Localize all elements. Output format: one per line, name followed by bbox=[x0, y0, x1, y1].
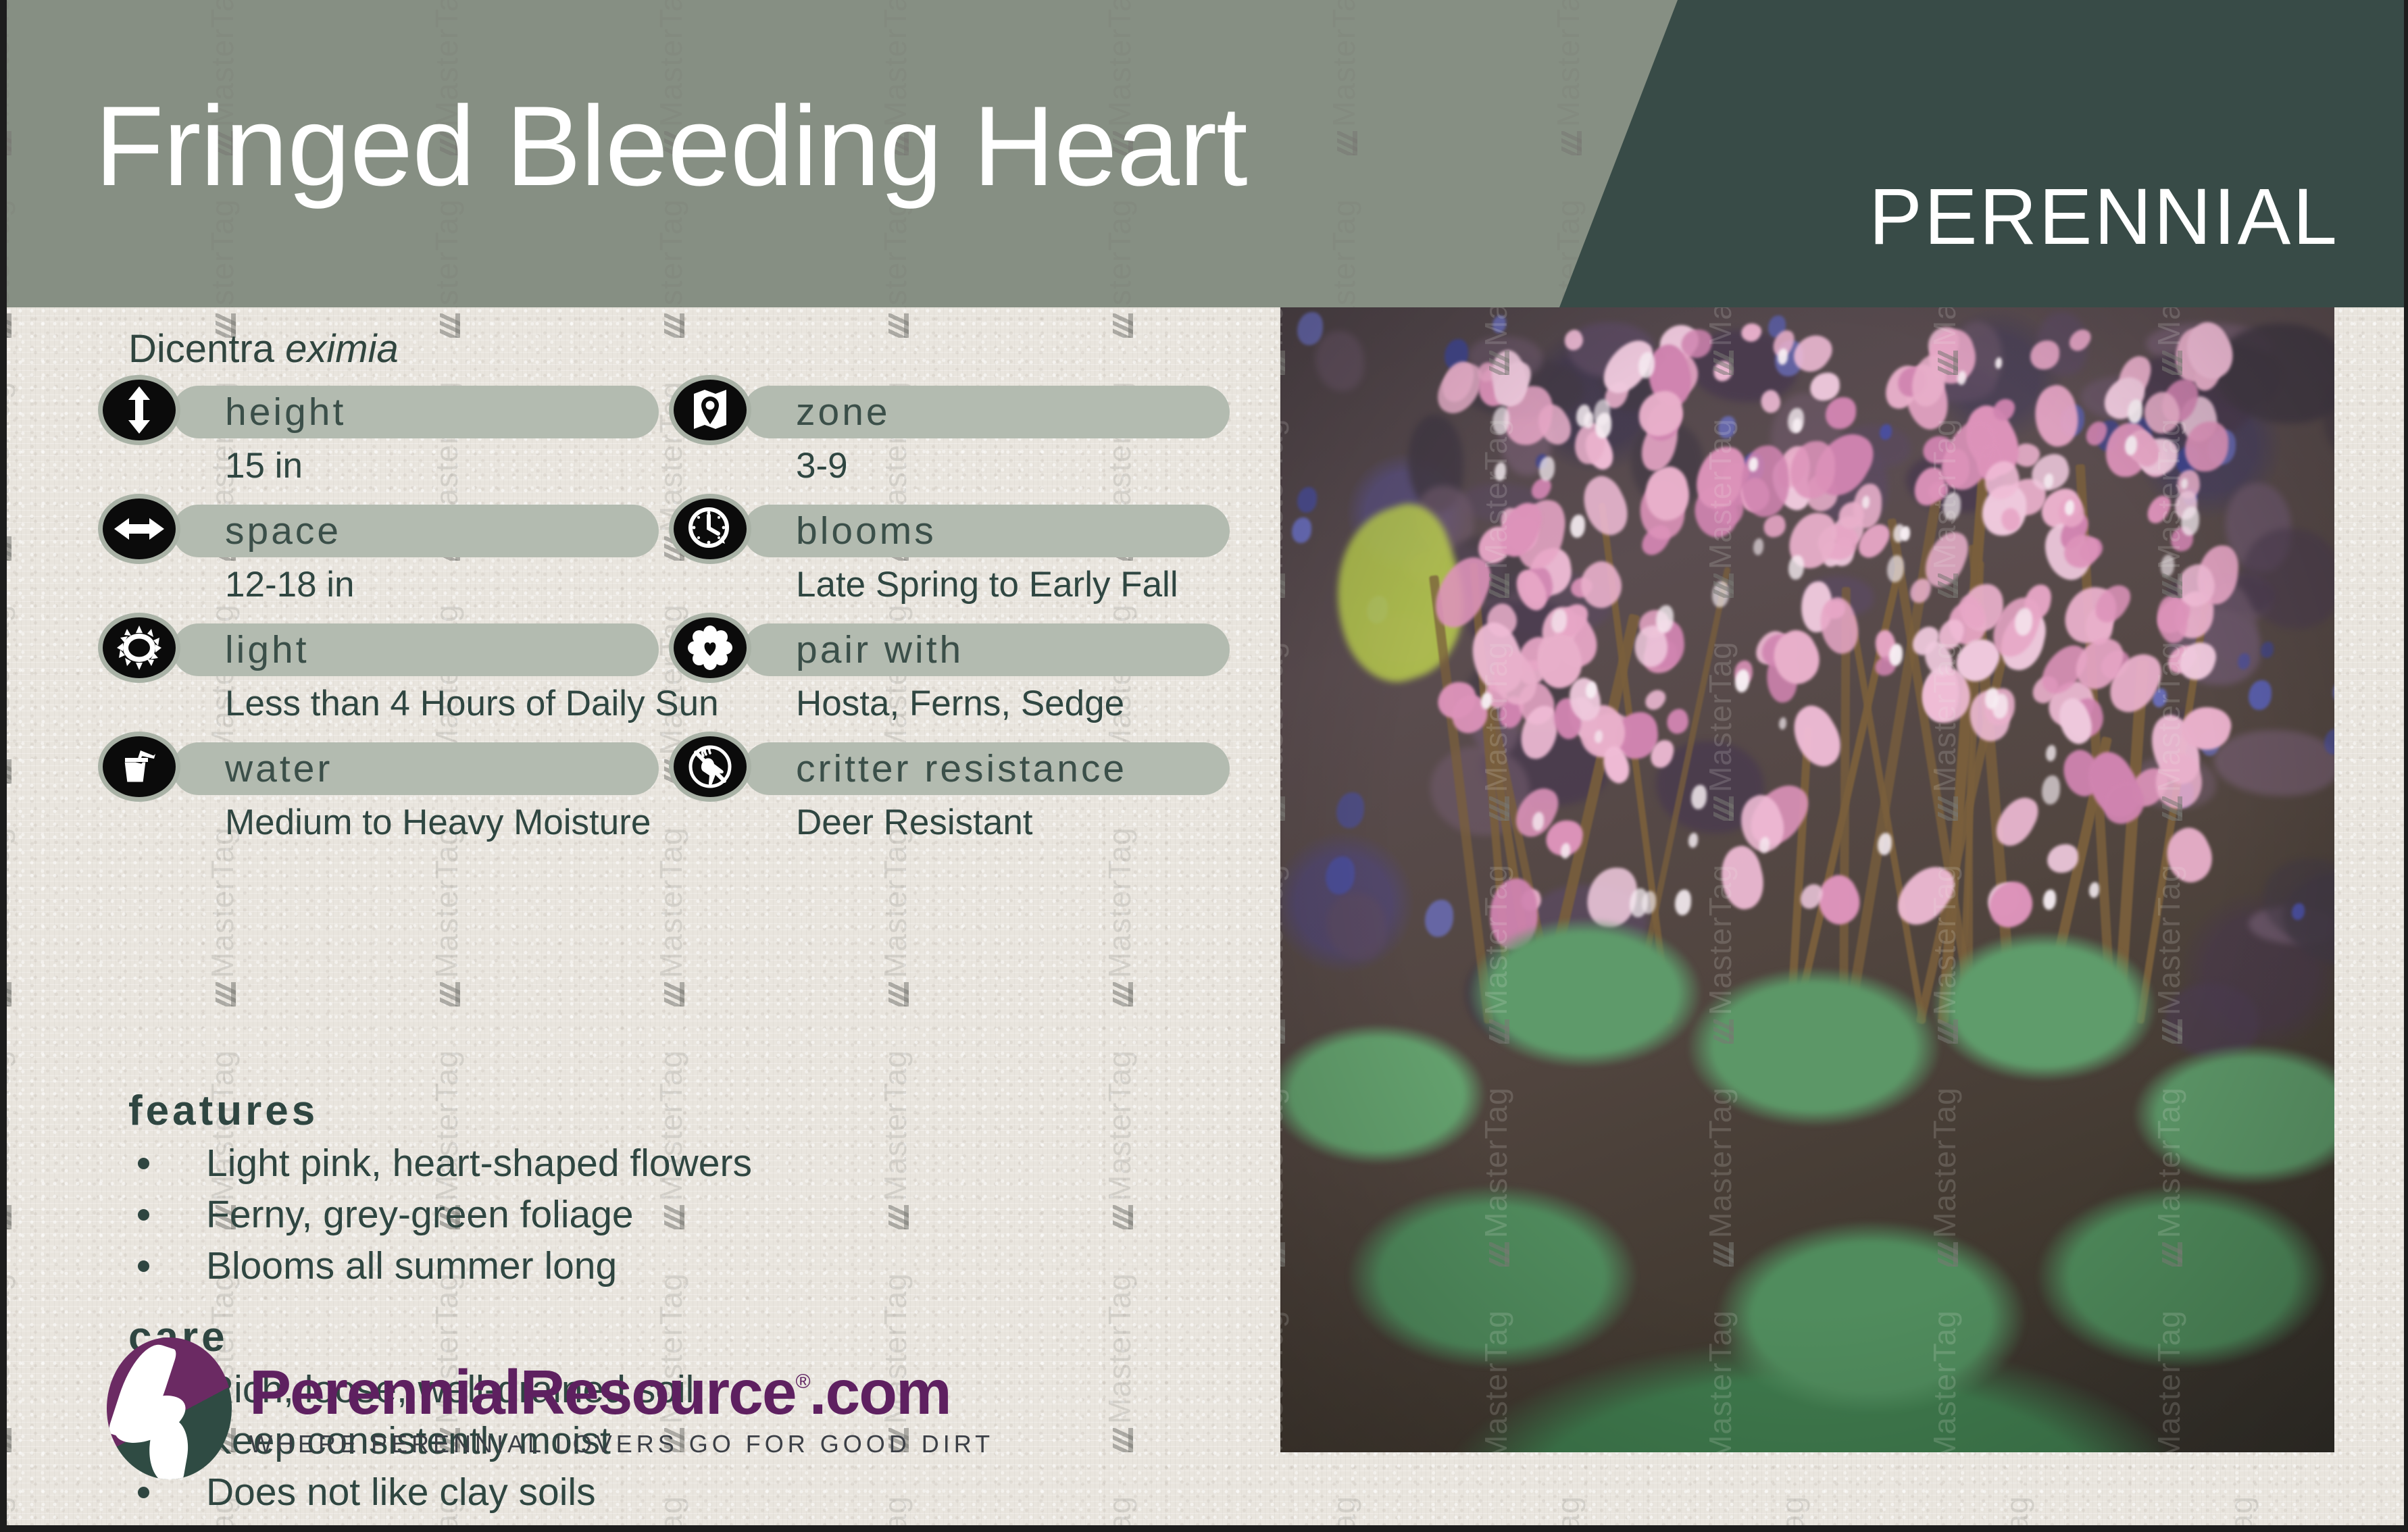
attribute-value: Less than 4 Hours of Daily Sun bbox=[225, 683, 719, 725]
no-deer-icon bbox=[669, 732, 751, 802]
bullet-dot bbox=[138, 1158, 149, 1169]
bullet-dot bbox=[138, 1487, 149, 1498]
list-item-text: Ferny, grey-green foliage bbox=[206, 1193, 634, 1236]
attribute-value: Deer Resistant bbox=[796, 802, 1033, 844]
sun-icon bbox=[98, 613, 180, 683]
attribute-pair-with: pair with Hosta, Ferns, Sedge bbox=[669, 621, 1230, 740]
attribute-column-left: height 15 in space 12-18 in bbox=[98, 383, 659, 859]
list-item-text: Blooms all summer long bbox=[206, 1244, 617, 1287]
height-arrow-icon bbox=[98, 375, 180, 445]
attribute-value: 12-18 in bbox=[225, 564, 355, 606]
attribute-light: light Less than 4 Hours of Daily Sun bbox=[98, 621, 659, 740]
attribute-value: 3-9 bbox=[796, 445, 848, 487]
page-title: Fringed Bleeding Heart bbox=[95, 89, 1247, 203]
attribute-value: Medium to Heavy Moisture bbox=[225, 802, 651, 844]
botanical-name: Dicentra eximia bbox=[128, 326, 399, 372]
attribute-label: pair with bbox=[796, 628, 963, 672]
attribute-space: space 12-18 in bbox=[98, 502, 659, 621]
plant-tag: MasterTagMasterTagMasterTagMasterTagMast… bbox=[0, 0, 2408, 1532]
attribute-blooms: blooms Late Spring to Early Fall bbox=[669, 502, 1230, 621]
watering-can-icon bbox=[98, 732, 180, 802]
plant-type-badge: PERENNIAL bbox=[1869, 177, 2339, 257]
perennial-resource-logo[interactable]: PerennialResource®.com WHERE PERENNIAL L… bbox=[107, 1337, 994, 1479]
attribute-label: light bbox=[225, 628, 309, 672]
bullet-dot bbox=[138, 1260, 149, 1272]
registered-mark-icon: ® bbox=[796, 1371, 809, 1393]
logo-text-block: PerennialResource®.com WHERE PERENNIAL L… bbox=[249, 1361, 994, 1456]
flower-heart-icon bbox=[669, 613, 751, 683]
plant-photo: MasterTagMasterTagMasterTagMasterTagMast… bbox=[1280, 307, 2334, 1452]
botanical-species: eximia bbox=[285, 327, 399, 371]
list-item: Light pink, heart-shaped flowers bbox=[128, 1138, 752, 1189]
logo-wordmark: PerennialResource®.com bbox=[249, 1361, 994, 1424]
attribute-label: critter resistance bbox=[796, 746, 1127, 791]
attribute-critter-resistance: critter resistance Deer Resistant bbox=[669, 740, 1230, 859]
attribute-label: blooms bbox=[796, 509, 936, 553]
attribute-label: space bbox=[225, 509, 341, 553]
header-band: MasterTagMasterTagMasterTagMasterTagMast… bbox=[7, 0, 2404, 307]
attribute-label: zone bbox=[796, 390, 891, 434]
features-heading: features bbox=[128, 1088, 752, 1135]
leaf-logo-icon bbox=[107, 1337, 232, 1479]
map-pin-icon bbox=[669, 375, 751, 445]
list-item: Ferny, grey-green foliage bbox=[128, 1189, 752, 1240]
bullet-dot bbox=[138, 1209, 149, 1221]
attribute-value: Hosta, Ferns, Sedge bbox=[796, 683, 1124, 725]
logo-tagline: WHERE PERENNIAL LOVERS GO FOR GOOD DIRT bbox=[249, 1432, 994, 1456]
list-item-text: Light pink, heart-shaped flowers bbox=[206, 1142, 752, 1185]
photo-vignette bbox=[1280, 307, 2334, 1452]
botanical-genus: Dicentra bbox=[128, 327, 274, 371]
attribute-height: height 15 in bbox=[98, 383, 659, 502]
attribute-column-right: zone 3-9 bbox=[669, 383, 1230, 859]
logo-wordmark-primary: PerennialResource bbox=[249, 1357, 796, 1427]
features-section: features Light pink, heart-shaped flower… bbox=[128, 1088, 752, 1292]
list-item: Blooms all summer long bbox=[128, 1240, 752, 1292]
attribute-water: water Medium to Heavy Moisture bbox=[98, 740, 659, 859]
attribute-label: water bbox=[225, 746, 332, 791]
attribute-zone: zone 3-9 bbox=[669, 383, 1230, 502]
logo-wordmark-suffix: .com bbox=[809, 1357, 951, 1427]
width-arrow-icon bbox=[98, 494, 180, 564]
attribute-label: height bbox=[225, 390, 346, 434]
attribute-value: 15 in bbox=[225, 445, 303, 487]
clock-icon bbox=[669, 494, 751, 564]
features-list: Light pink, heart-shaped flowers Ferny, … bbox=[128, 1138, 752, 1292]
attribute-value: Late Spring to Early Fall bbox=[796, 564, 1178, 606]
